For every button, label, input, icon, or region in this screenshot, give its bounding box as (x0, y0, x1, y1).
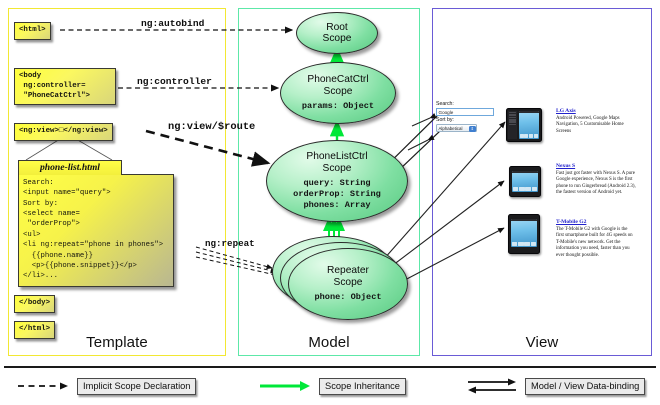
legend: Implicit Scope Declaration Scope Inherit… (0, 374, 660, 402)
note-title: phone-list.html (18, 160, 122, 175)
scope-phonecatctrl: PhoneCatCtrl Scope params: Object (280, 62, 396, 124)
tag-body-open: <body ng:controller= "PhoneCatCtrl"> (14, 68, 116, 105)
edge-label-view-route: ng:view/$route (168, 121, 255, 133)
edge-label-autobind: ng:autobind (141, 18, 204, 29)
phone-thumbnail-t-mobile-g2 (508, 214, 540, 254)
phone-thumbnail-nexus-s (509, 166, 541, 197)
dashed-arrow-icon (16, 377, 72, 395)
column-label-view: View (433, 334, 651, 351)
legend-label-implicit: Implicit Scope Declaration (77, 378, 196, 395)
listing-link[interactable]: T-Mobile G2 (556, 219, 636, 225)
green-arrow-icon (258, 377, 314, 395)
edge-label-controller: ng:controller (137, 76, 212, 87)
scope-phonelistctrl-title: PhoneListCtrl Scope (306, 151, 367, 174)
phone-screen (519, 111, 540, 139)
tag-body-close: </body> (14, 295, 55, 313)
phone-keyboard (508, 111, 517, 139)
tag-html-open: <html> (14, 22, 51, 40)
sort-select[interactable]: Alphabetical ⇕ (436, 124, 477, 132)
scope-phonecatctrl-title: PhoneCatCtrl Scope (307, 74, 368, 97)
tag-html-close: </html> (14, 321, 55, 339)
double-arrow-icon (464, 377, 520, 395)
phone-screen (511, 219, 537, 247)
diagram-canvas: Template <html> <body ng:controller= "Ph… (0, 0, 660, 405)
scope-phonelistctrl-props: query: String orderProp: String phones: … (293, 178, 381, 211)
scope-repeater-props: phone: Object (314, 292, 381, 303)
listing-nexus-s: Nexus S Fast just got faster with Nexus … (556, 163, 636, 197)
sort-label: Sort by: (436, 117, 494, 124)
scope-phonecatctrl-props: params: Object (302, 101, 374, 112)
listing-link[interactable]: Nexus S (556, 163, 636, 169)
scope-root-title: Root Scope (323, 22, 352, 45)
tag-ngview: <ng:view>□</ng:view> (14, 123, 113, 141)
scope-root: Root Scope (296, 12, 378, 54)
search-form: Search: Google Sort by: Alphabetical ⇕ (436, 101, 494, 132)
legend-label-inheritance: Scope Inheritance (319, 378, 406, 395)
legend-item-inheritance: Scope Inheritance (258, 377, 406, 395)
legend-divider (4, 366, 656, 368)
scope-repeater-title: Repeater Scope (327, 265, 369, 288)
listing-snippet: Fast just got faster with Nexus S. A pur… (556, 171, 636, 197)
note-phone-list-html: phone-list.html Search: <input name="que… (18, 160, 174, 287)
legend-label-databinding: Model / View Data-binding (525, 378, 645, 395)
search-input[interactable]: Google (436, 108, 494, 116)
phone-thumbnail-lg-axis (506, 108, 542, 142)
listing-t-mobile-g2: T-Mobile G2 The T-Mobile G2 with Google … (556, 219, 636, 259)
listing-snippet: Android Powered, Google Maps Navigation,… (556, 116, 636, 136)
edge-label-repeat: ng:repeat (205, 238, 255, 249)
column-label-model: Model (239, 334, 419, 351)
legend-item-implicit: Implicit Scope Declaration (16, 377, 196, 395)
listing-snippet: The T-Mobile G2 with Google is the first… (556, 227, 636, 260)
legend-item-databinding: Model / View Data-binding (464, 377, 645, 395)
chevron-updown-icon: ⇕ (469, 126, 476, 133)
scope-phonelistctrl: PhoneListCtrl Scope query: String orderP… (266, 140, 408, 222)
scope-repeater: Repeater Scope phone: Object (288, 248, 408, 320)
listing-lg-axis: LG Axis Android Powered, Google Maps Nav… (556, 108, 636, 135)
note-code: Search: <input name="query"> Sort by: <s… (18, 174, 174, 287)
phone-screen (512, 171, 538, 193)
search-label: Search: (436, 101, 494, 108)
listing-link[interactable]: LG Axis (556, 108, 636, 114)
sort-select-value: Alphabetical (439, 125, 463, 132)
